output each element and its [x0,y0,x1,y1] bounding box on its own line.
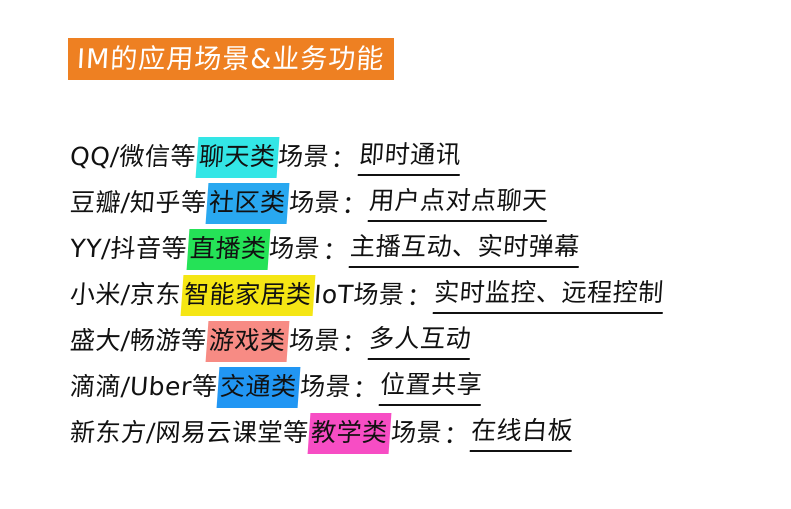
line-prefix: 盛大/畅游等 [69,324,208,358]
line-highlight: 智能家居类 [181,275,315,316]
line-underlined: 实时监控、远程控制 [433,276,665,314]
line-underlined: 主播互动、实时弹幕 [349,230,581,268]
line-colon: ： [328,139,360,175]
line-highlight: 社区类 [206,183,289,224]
line-middle: 场景 [277,140,330,174]
line-highlight: 交通类 [217,367,300,408]
line-highlight: 聊天类 [195,137,278,178]
line-highlight: 教学类 [308,413,391,454]
line-colon: ： [339,185,371,221]
slide-canvas: IM的应用场景&业务功能 QQ/微信等 聊天类 场景 ： 即时通讯 豆瓣/知乎等… [0,0,791,509]
line-middle: 场景 [288,324,341,358]
slide-title-banner: IM的应用场景&业务功能 [68,38,394,80]
line-colon: ： [404,277,436,313]
line-prefix: 豆瓣/知乎等 [69,186,208,220]
list-item: QQ/微信等 聊天类 场景 ： 即时通讯 [70,134,770,180]
line-prefix: 小米/京东 [69,278,182,312]
line-colon: ： [350,369,382,405]
list-item: 豆瓣/知乎等 社区类 场景 ： 用户点对点聊天 [70,180,770,226]
line-underlined: 在线白板 [470,414,575,452]
line-underlined: 用户点对点聊天 [368,184,549,222]
line-middle: 场景 [268,232,321,266]
scenario-list: QQ/微信等 聊天类 场景 ： 即时通讯 豆瓣/知乎等 社区类 场景 ： 用户点… [70,134,770,456]
list-item: 新东方/网易云课堂等 教学类 场景 ： 在线白板 [70,410,770,456]
line-underlined: 位置共享 [379,368,484,406]
line-middle: 场景 [390,416,443,450]
line-colon: ： [441,415,473,451]
line-highlight: 直播类 [187,229,270,270]
line-prefix: 滴滴/Uber等 [69,370,219,404]
list-item: 盛大/畅游等 游戏类 场景 ： 多人互动 [70,318,770,364]
list-item: YY/抖音等 直播类 场景 ： 主播互动、实时弹幕 [70,226,770,272]
line-prefix: YY/抖音等 [69,232,188,266]
line-middle: IoT场景 [313,278,406,312]
line-prefix: QQ/微信等 [69,140,197,174]
line-prefix: 新东方/网易云课堂等 [69,416,310,450]
list-item: 滴滴/Uber等 交通类 场景 ： 位置共享 [70,364,770,410]
line-underlined: 即时通讯 [357,138,462,176]
line-underlined: 多人互动 [368,322,473,360]
line-highlight: 游戏类 [206,321,289,362]
line-middle: 场景 [299,370,352,404]
page-title: IM的应用场景&业务功能 [76,46,385,73]
list-item: 小米/京东 智能家居类 IoT场景 ： 实时监控、远程控制 [70,272,770,318]
line-middle: 场景 [288,186,341,220]
line-colon: ： [319,231,351,267]
line-colon: ： [339,323,371,359]
